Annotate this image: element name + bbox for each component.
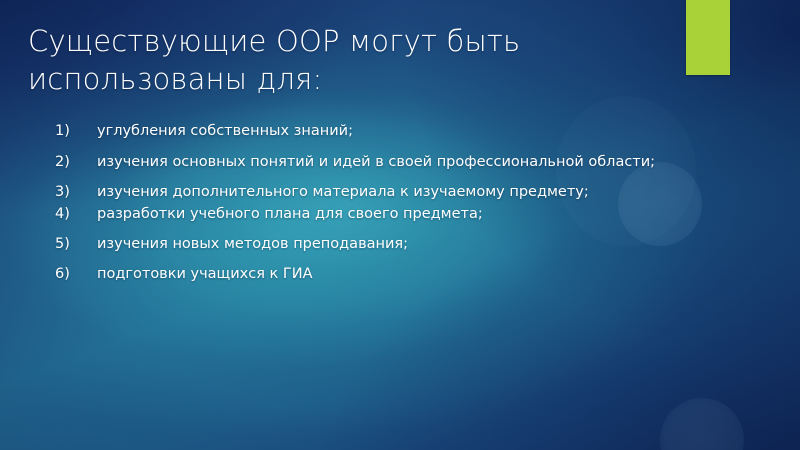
list-item: 6) подготовки учащихся к ГИА xyxy=(52,265,682,284)
list-item-text: подготовки учащихся к ГИА xyxy=(97,265,682,284)
list-item-number: 3) xyxy=(55,183,95,202)
list-item-number: 4) xyxy=(55,205,95,224)
presentation-slide: Существующие ООР могут быть использованы… xyxy=(0,0,800,450)
list-item-text: изучения дополнительного материала к изу… xyxy=(97,183,682,202)
slide-title: Существующие ООР могут быть использованы… xyxy=(28,22,668,98)
green-accent-rectangle xyxy=(686,0,730,75)
list-item: 2) изучения основных понятий и идей в св… xyxy=(52,153,682,172)
list-item-text: изучения основных понятий и идей в своей… xyxy=(97,153,682,172)
list-item-number: 6) xyxy=(55,265,95,284)
slide-body-numbered-list: 1) углубления собственных знаний; 2) изу… xyxy=(52,122,682,284)
list-item: 5) изучения новых методов преподавания; xyxy=(52,235,682,254)
list-item: 3) изучения дополнительного материала к … xyxy=(52,183,682,202)
background-circle-highlight-bottom xyxy=(660,398,744,450)
list-item-number: 2) xyxy=(55,153,95,172)
list-item: 1) углубления собственных знаний; xyxy=(52,122,682,141)
list-item: 4) разработки учебного плана для своего … xyxy=(52,205,682,224)
list-item-text: разработки учебного плана для своего пре… xyxy=(97,205,682,224)
list-item-text: углубления собственных знаний; xyxy=(97,122,682,141)
list-item-number: 1) xyxy=(55,122,95,141)
list-item-text: изучения новых методов преподавания; xyxy=(97,235,682,254)
list-item-number: 5) xyxy=(55,235,95,254)
